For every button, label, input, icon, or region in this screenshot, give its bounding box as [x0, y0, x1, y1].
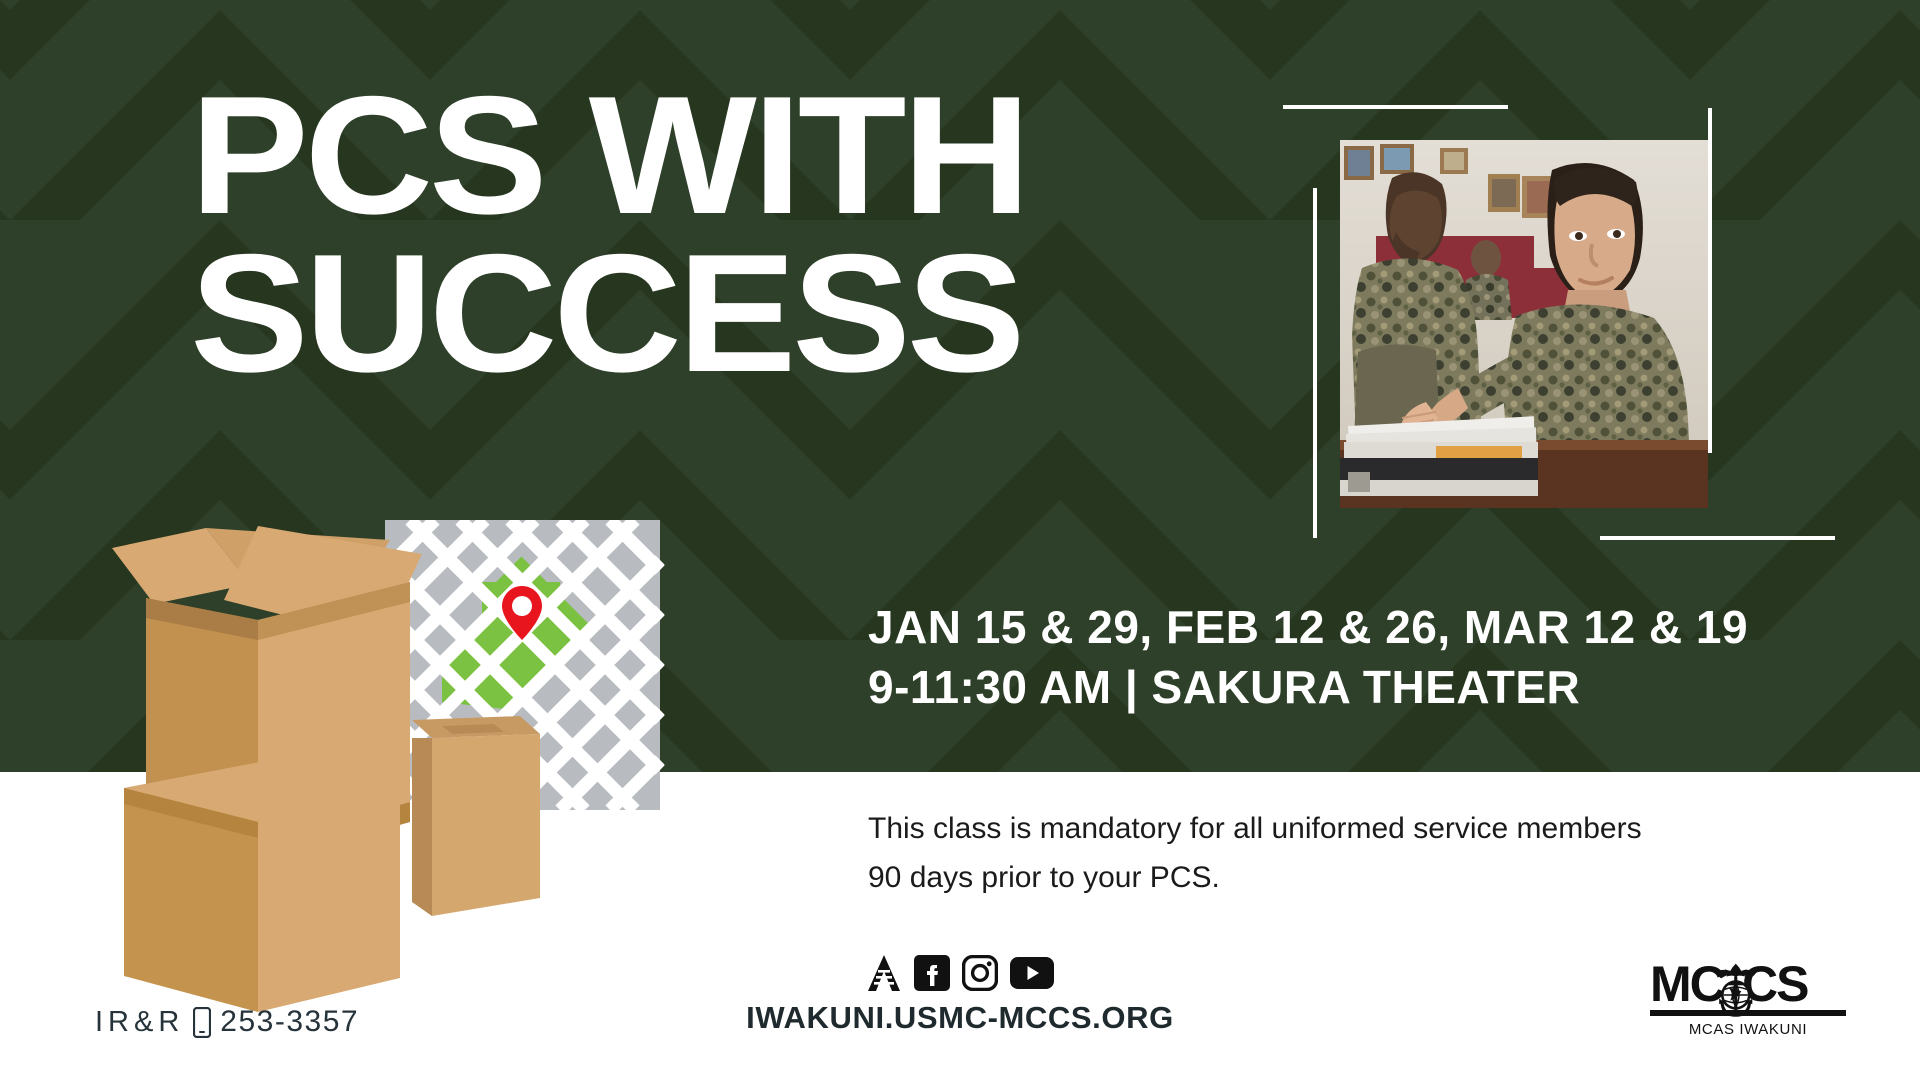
- web-contact: IWAKUNI.USMC-MCCS.ORG: [730, 952, 1190, 1036]
- youtube-icon[interactable]: [1010, 957, 1054, 989]
- mandatory-note: This class is mandatory for all uniforme…: [868, 805, 1868, 902]
- frame-line-bottom: [1600, 536, 1835, 540]
- frame-line-right: [1708, 108, 1712, 453]
- instagram-icon[interactable]: [962, 955, 998, 991]
- note-line-1: This class is mandatory for all uniforme…: [868, 805, 1868, 854]
- pcs-with-success-flyer: PCS WITH SUCCESS: [0, 0, 1920, 1080]
- phone-label: IR&R: [95, 1006, 184, 1039]
- social-links: [730, 952, 1190, 994]
- marines-photo: [1340, 140, 1708, 508]
- title-line-1: PCS WITH: [190, 82, 1367, 230]
- mccs-logo: MC CS: [1650, 958, 1846, 1040]
- moving-box-right: [412, 716, 540, 916]
- phone-number: 253-3357: [220, 1005, 359, 1039]
- moving-illustration: [90, 520, 850, 1020]
- phone-contact[interactable]: IR&R 253-3357: [95, 1000, 359, 1044]
- page-title: PCS WITH SUCCESS: [190, 82, 1300, 388]
- frame-line-left: [1313, 188, 1317, 538]
- title-line-2: SUCCESS: [190, 240, 1367, 388]
- frame-line-top: [1283, 105, 1508, 109]
- schedule-block: JAN 15 & 29, FEB 12 & 26, MAR 12 & 19 9-…: [868, 598, 1888, 718]
- mccs-app-icon[interactable]: [866, 954, 902, 992]
- schedule-dates: JAN 15 & 29, FEB 12 & 26, MAR 12 & 19: [868, 598, 1888, 658]
- mobile-phone-icon: [193, 1007, 211, 1038]
- mccs-subtitle: MCAS IWAKUNI: [1689, 1021, 1807, 1038]
- schedule-time-location: 9-11:30 AM | SAKURA THEATER: [868, 658, 1888, 718]
- mccs-wordmark: MC: [1650, 958, 1725, 1012]
- facebook-icon[interactable]: [914, 955, 950, 991]
- moving-box-front: [124, 760, 400, 1012]
- website-url[interactable]: IWAKUNI.USMC-MCCS.ORG: [730, 1000, 1190, 1036]
- note-line-2: 90 days prior to your PCS.: [868, 854, 1868, 903]
